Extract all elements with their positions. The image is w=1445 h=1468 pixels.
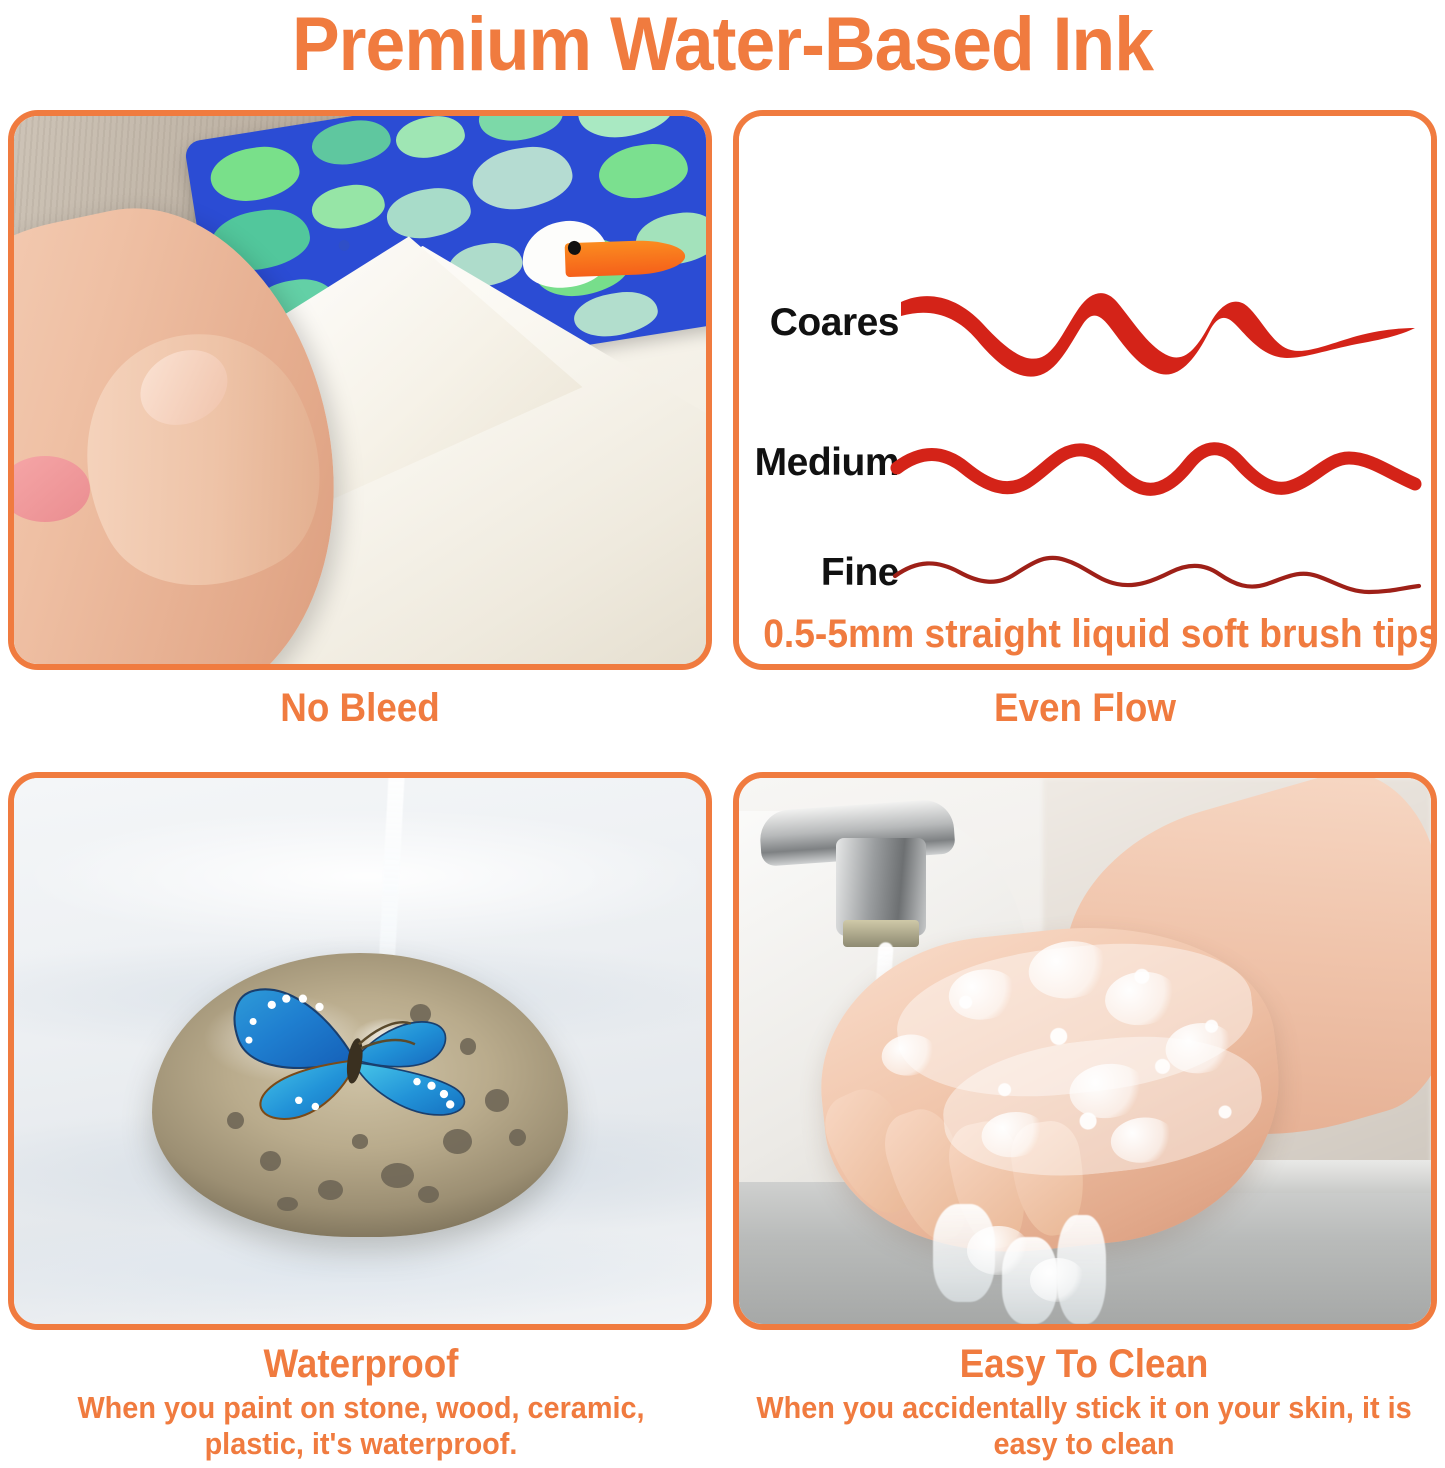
waterproof-photo xyxy=(14,778,706,1324)
caption-even-flow: Even Flow xyxy=(733,684,1437,732)
panel-even-flow: Coares Medium Fine 0.5-5mm straight liqu… xyxy=(733,110,1437,670)
panel-easy-to-clean xyxy=(733,772,1437,1330)
stroke-label-medium: Medium xyxy=(739,441,899,485)
painted-nail xyxy=(8,456,90,522)
caption-waterproof-text: Waterproof xyxy=(29,1340,693,1388)
brush-stroke-chart: Coares Medium Fine 0.5-5mm straight liqu… xyxy=(739,116,1431,664)
caption-easy-to-clean-text: Easy To Clean xyxy=(752,1340,1416,1388)
stroke-label-fine: Fine xyxy=(739,551,899,595)
caption-no-bleed: No Bleed xyxy=(8,684,712,732)
easy-to-clean-photo xyxy=(739,778,1431,1324)
no-bleed-photo xyxy=(14,116,706,664)
caption-waterproof: Waterproof When you paint on stone, wood… xyxy=(0,1340,722,1462)
duck-beak xyxy=(564,238,685,276)
panel-no-bleed xyxy=(8,110,712,670)
caption-easy-to-clean: Easy To Clean When you accidentally stic… xyxy=(723,1340,1445,1462)
panel-waterproof xyxy=(8,772,712,1330)
brush-tips-caption: 0.5-5mm straight liquid soft brush tips xyxy=(763,610,1407,658)
page-title: Premium Water-Based Ink xyxy=(43,2,1401,88)
caption-no-bleed-text: No Bleed xyxy=(36,684,684,732)
stroke-sample-medium xyxy=(887,434,1427,524)
caption-waterproof-sub: When you paint on stone, wood, ceramic, … xyxy=(25,1390,696,1462)
stroke-sample-coarse xyxy=(887,266,1427,396)
caption-even-flow-text: Even Flow xyxy=(761,684,1409,732)
butterfly-painting xyxy=(152,953,553,1160)
caption-easy-to-clean-sub: When you accidentally stick it on your s… xyxy=(748,1390,1419,1462)
product-infographic: Premium Water-Based Ink xyxy=(0,0,1445,1468)
stroke-label-coarse: Coares xyxy=(739,301,899,345)
